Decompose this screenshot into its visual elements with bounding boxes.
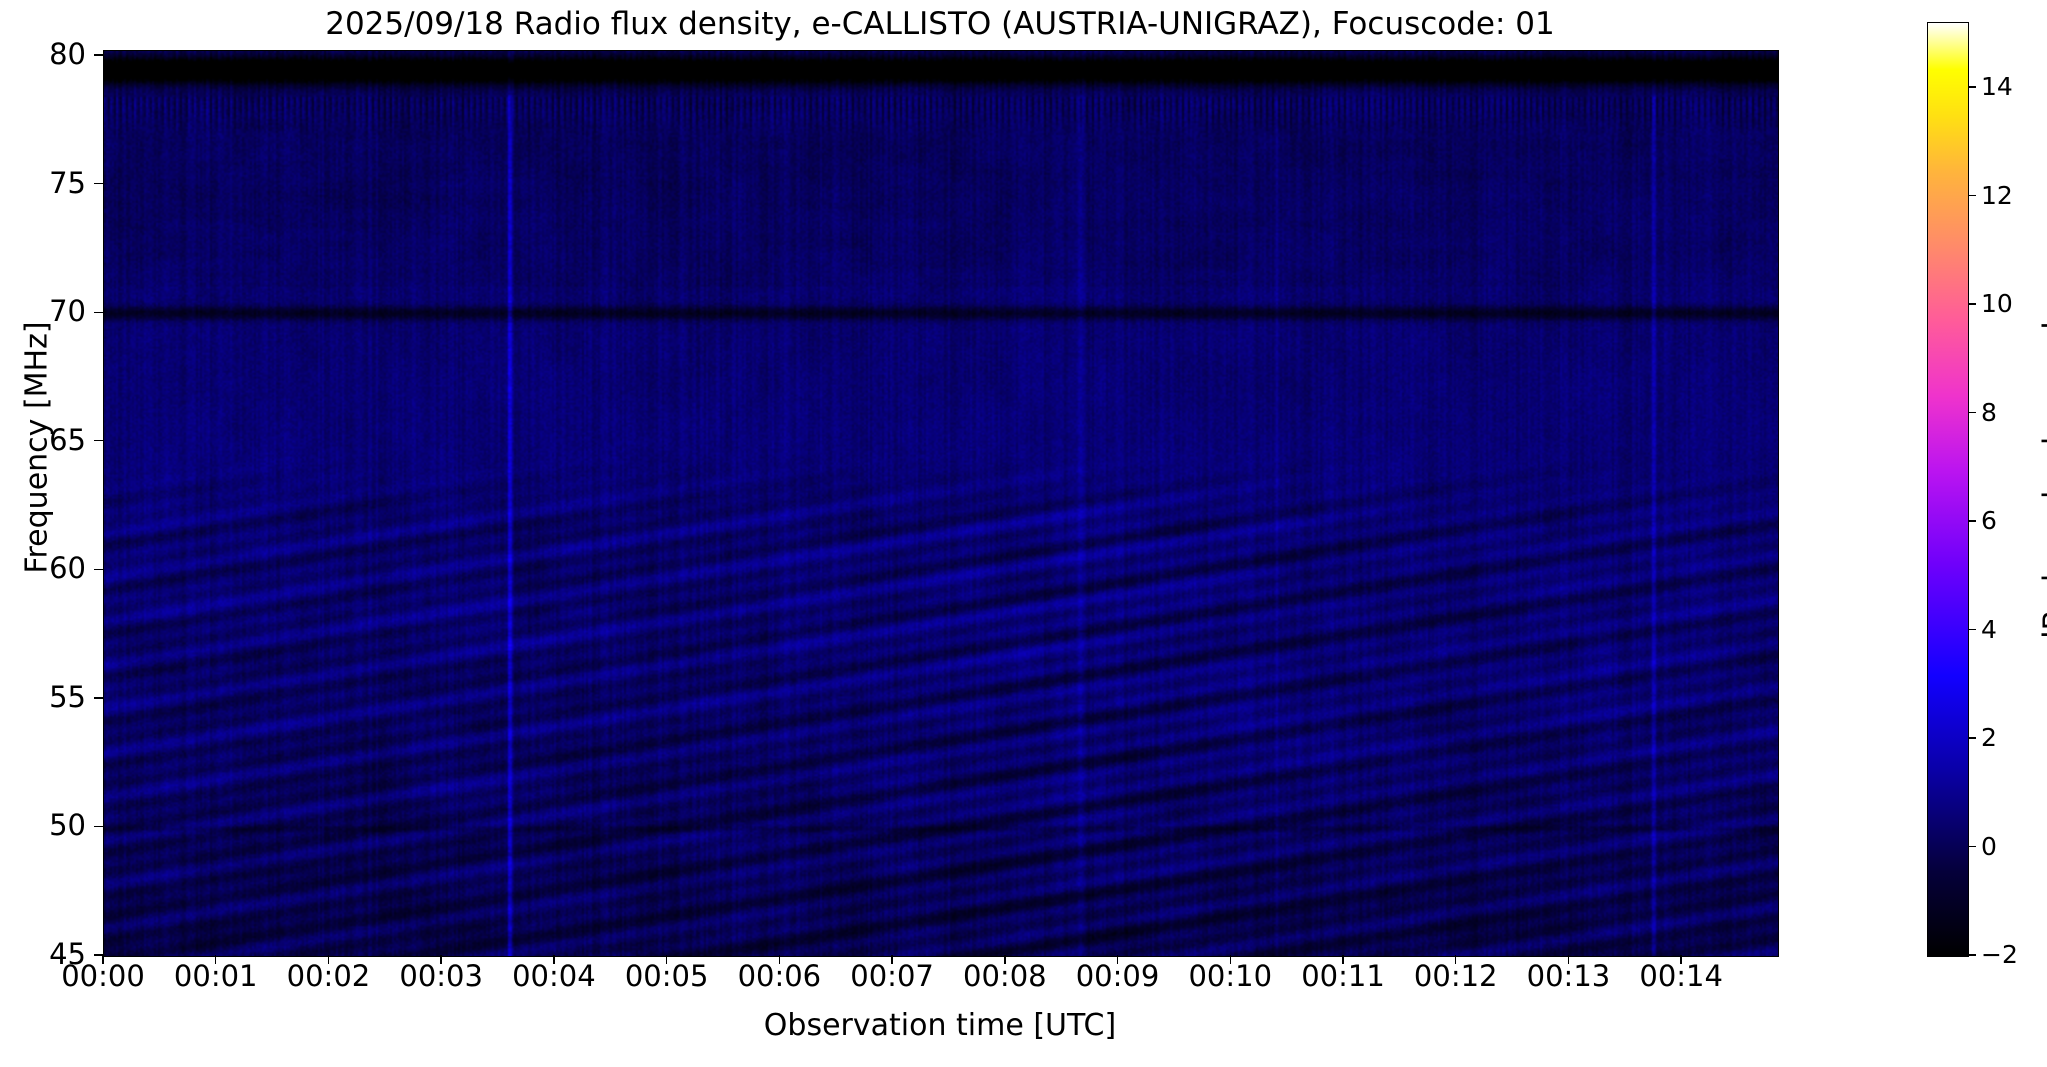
y-axis-tick-label: 50: [0, 811, 86, 840]
colorbar[interactable]: [1927, 22, 1969, 957]
y-axis-tick-mark: [94, 183, 103, 184]
colorbar-tick-mark: [1968, 520, 1976, 521]
y-axis-tick-label: 55: [0, 683, 86, 712]
colorbar-tick-label: −2: [1981, 942, 2018, 967]
y-axis-tick-mark: [94, 826, 103, 827]
colorbar-tick-label: 6: [1981, 508, 1997, 533]
spectrogram-image: [104, 51, 1778, 956]
colorbar-label: dB above background: [2038, 276, 2047, 696]
colorbar-tick-mark: [1968, 629, 1976, 630]
colorbar-tick-mark: [1968, 737, 1976, 738]
colorbar-tick-label: 10: [1981, 291, 2013, 316]
colorbar-tick-mark: [1968, 303, 1976, 304]
colorbar-tick-label: 8: [1981, 400, 1997, 425]
y-axis-tick-mark: [94, 312, 103, 313]
colorbar-tick-label: 14: [1981, 74, 2013, 99]
colorbar-tick-mark: [1968, 846, 1976, 847]
colorbar-gradient: [1928, 23, 1968, 956]
page-title: 2025/09/18 Radio flux density, e-CALLIST…: [103, 4, 1777, 44]
y-axis-tick-mark: [94, 697, 103, 698]
colorbar-tick-label: 0: [1981, 834, 1997, 859]
y-axis-tick-mark: [94, 440, 103, 441]
y-axis-tick-mark: [94, 569, 103, 570]
colorbar-tick-label: 12: [1981, 183, 2013, 208]
spectrogram-canvas: [104, 51, 1778, 956]
colorbar-tick-mark: [1968, 86, 1976, 87]
y-axis-label: Frequency [MHz]: [20, 248, 55, 648]
y-axis-tick-label: 75: [0, 169, 86, 198]
spectrogram-axes[interactable]: [103, 50, 1779, 957]
figure-canvas: 2025/09/18 Radio flux density, e-CALLIST…: [0, 0, 2047, 1067]
colorbar-tick-label: 2: [1981, 725, 1997, 750]
colorbar-tick-mark: [1968, 195, 1976, 196]
colorbar-tick-mark: [1968, 412, 1976, 413]
colorbar-tick-label: 4: [1981, 617, 1997, 642]
colorbar-tick-mark: [1968, 954, 1976, 955]
x-axis-label: Observation time [UTC]: [103, 1008, 1777, 1043]
y-axis-tick-mark: [94, 54, 103, 55]
y-axis-tick-label: 80: [0, 40, 86, 69]
x-axis-tick-label: 00:14: [1601, 962, 1761, 991]
